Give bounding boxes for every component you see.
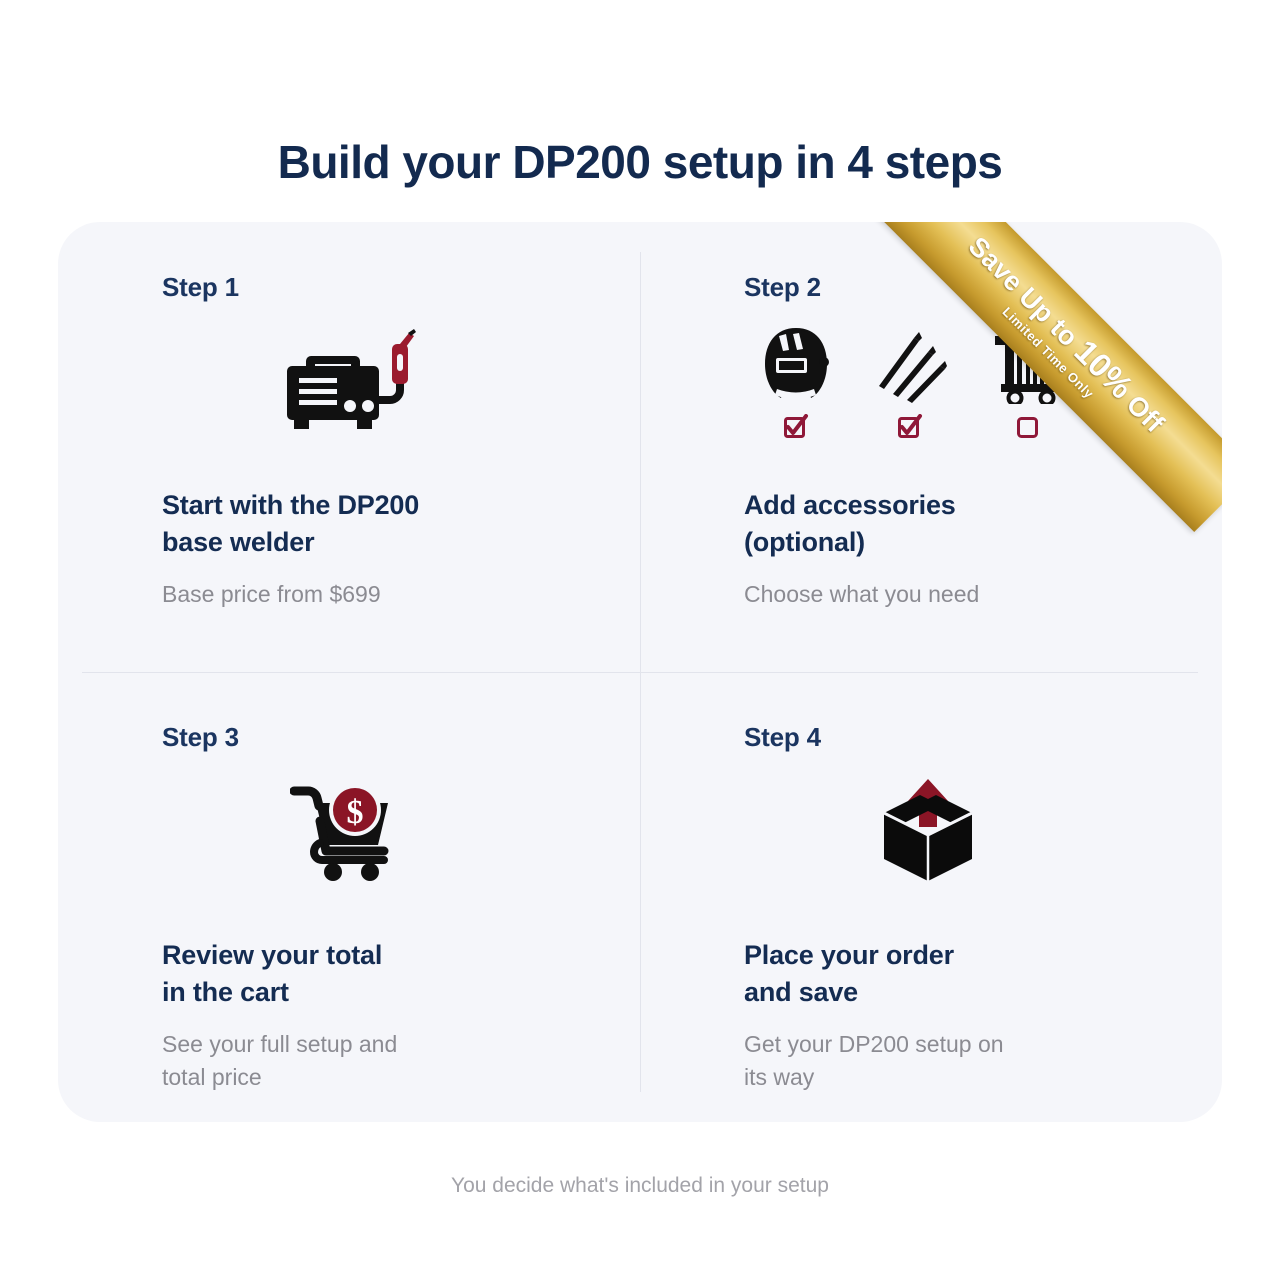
shopping-cart-dollar-icon: $ (290, 781, 402, 886)
footer-note: You decide what's included in your setup (0, 1174, 1280, 1198)
accessory-option-helmet[interactable] (759, 322, 833, 445)
accessory-option-cart[interactable] (987, 322, 1067, 445)
promo-infographic: Build your DP200 setup in 4 steps Step 1 (0, 0, 1280, 1280)
step-3-label: Step 3 (162, 722, 570, 753)
step-4-icon-area (744, 759, 1152, 907)
step-2-title: Add accessories (optional) (744, 487, 1152, 562)
svg-text:$: $ (347, 794, 364, 831)
cylinder-cart-icon (987, 322, 1067, 404)
shipping-box-arrow-icon (876, 777, 980, 890)
accessory-option-rods[interactable] (873, 322, 947, 445)
step-1-subtitle: Base price from $699 (162, 578, 562, 611)
step-card-2: Step 2 (640, 222, 1222, 672)
step-1-title: Start with the DP200 base welder (162, 487, 570, 562)
step-card-1: Step 1 (58, 222, 640, 672)
step-4-subtitle: Get your DP200 setup on its way (744, 1028, 1144, 1095)
step-4-title: Place your order and save (744, 937, 1152, 1012)
checkbox-cart-unchecked[interactable] (1014, 414, 1040, 445)
step-1-label: Step 1 (162, 272, 570, 303)
welder-machine-icon (271, 328, 421, 439)
step-3-icon-area: $ (162, 759, 570, 907)
step-2-icon-area (744, 309, 1152, 457)
step-card-4: Step 4 (640, 672, 1222, 1122)
step-2-label: Step 2 (744, 272, 1152, 303)
step-card-3: Step 3 (58, 672, 640, 1122)
step-3-subtitle: See your full setup and total price (162, 1028, 562, 1095)
step-2-subtitle: Choose what you need (744, 578, 1144, 611)
accessories-row (744, 322, 1112, 445)
step-1-icon-area (162, 309, 570, 457)
checkbox-rods-checked[interactable] (897, 414, 923, 445)
welding-rods-icon (873, 322, 947, 404)
step-4-label: Step 4 (744, 722, 1152, 753)
page-title: Build your DP200 setup in 4 steps (0, 135, 1280, 190)
steps-grid: Step 1 (58, 222, 1222, 1122)
steps-card: Step 1 (58, 222, 1222, 1122)
checkbox-helmet-checked[interactable] (783, 414, 809, 445)
step-3-title: Review your total in the cart (162, 937, 570, 1012)
welding-helmet-icon (759, 322, 833, 404)
